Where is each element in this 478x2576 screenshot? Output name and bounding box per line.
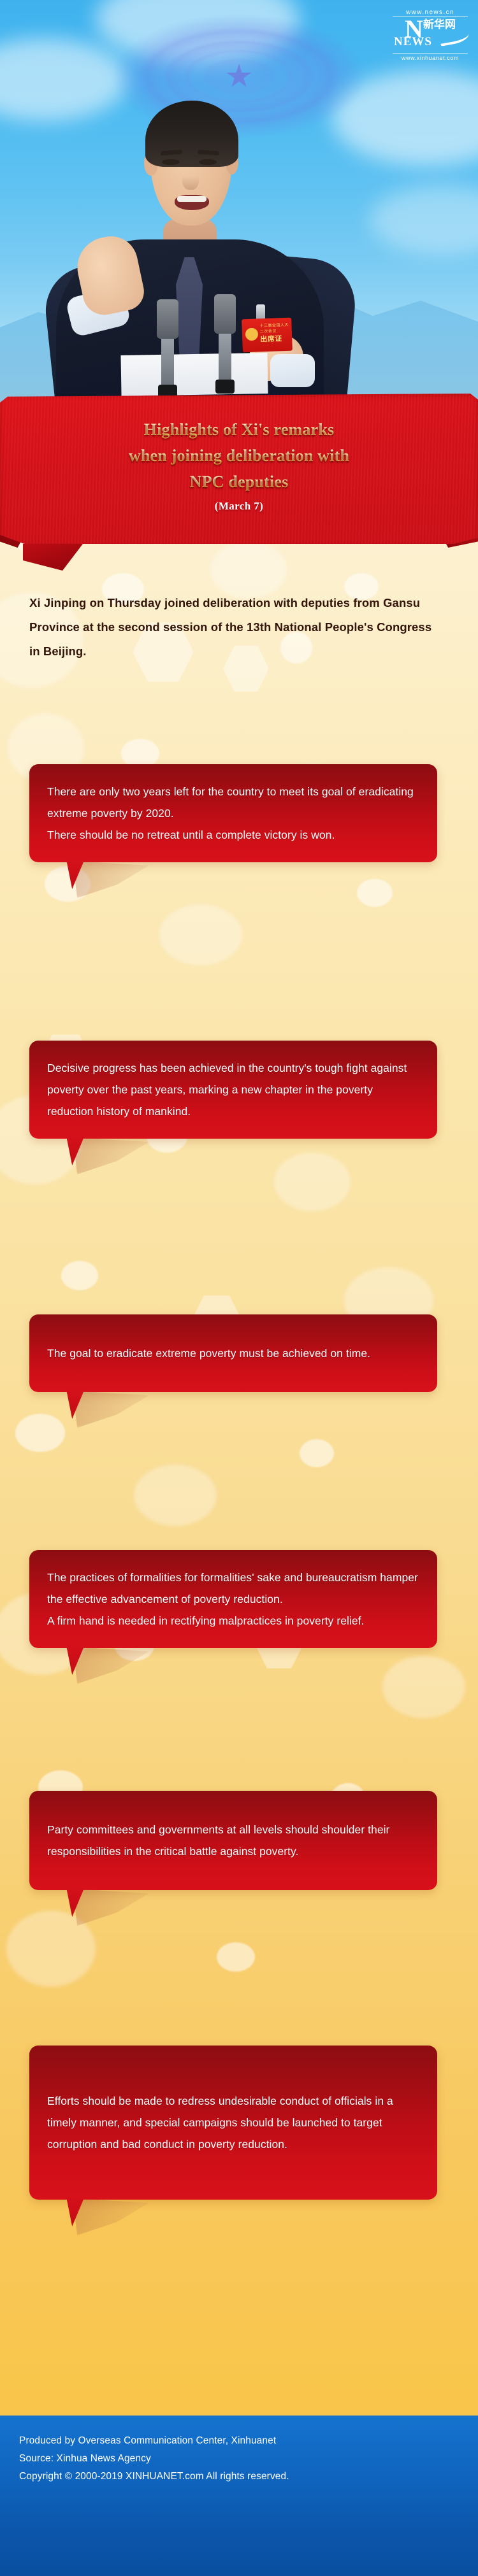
quote-bubble-3: The goal to eradicate extreme poverty mu… [29,1314,437,1392]
title-date: (March 7) [0,500,478,513]
banner-fold-left [23,544,83,571]
title-line-2: when joining deliberation with [0,443,478,469]
logo-chinese-name: 新华网 [423,19,456,31]
quote-bubble-2: Decisive progress has been achieved in t… [29,1041,437,1139]
quote-text-1: There are only two years left for the co… [29,764,437,862]
badge-main-text: 出席证 [260,334,289,345]
quote-bubble-1: There are only two years left for the co… [29,764,437,862]
quote-text-2: Decisive progress has been achieved in t… [29,1041,437,1139]
infographic-page: 十三届全国人大二次会议 出席证 www.news.cn N 新华网 NEWS w… [0,0,478,2576]
quote-text-6: Efforts should be made to redress undesi… [29,2046,437,2200]
npc-credential-badge: 十三届全国人大二次会议 出席证 [242,318,293,353]
xinhua-news-logo[interactable]: www.news.cn N 新华网 NEWS www.xinhuanet.com [393,9,468,61]
header-hero: 十三届全国人大二次会议 出席证 www.news.cn N 新华网 NEWS w… [0,0,478,408]
banner-body: Highlights of Xi's remarks when joining … [0,394,478,544]
national-emblem-icon [245,327,259,341]
intro-paragraph: Xi Jinping on Thursday joined deliberati… [29,591,437,664]
logo-url-bottom: www.xinhuanet.com [393,53,468,61]
logo-word-news: NEWS [394,35,432,49]
microphone-icon [214,294,236,394]
footer-produced-by: Produced by Overseas Communication Cente… [19,2432,460,2450]
quote-text-5: Party committees and governments at all … [29,1791,437,1890]
title-line-1: Highlights of Xi's remarks [0,416,478,443]
quote-text-4: The practices of formalities for formali… [29,1550,437,1648]
quote-bubble-4: The practices of formalities for formali… [29,1550,437,1648]
page-title: Highlights of Xi's remarks when joining … [0,394,478,513]
quote-text-3: The goal to eradicate extreme poverty mu… [29,1314,437,1392]
title-banner: Highlights of Xi's remarks when joining … [0,380,478,577]
footer-copyright: Copyright © 2000-2019 XINHUANET.com All … [19,2468,460,2486]
title-line-3: NPC deputies [0,469,478,495]
logo-url-top: www.news.cn [393,9,468,17]
footer-source: Source: Xinhua News Agency [19,2450,460,2468]
badge-top-text: 十三届全国人大二次会议 [259,324,289,334]
quote-bubble-5: Party committees and governments at all … [29,1791,437,1890]
swoosh-icon [439,29,470,46]
footer: Produced by Overseas Communication Cente… [0,2416,478,2576]
quote-bubble-6: Efforts should be made to redress undesi… [29,2046,437,2200]
